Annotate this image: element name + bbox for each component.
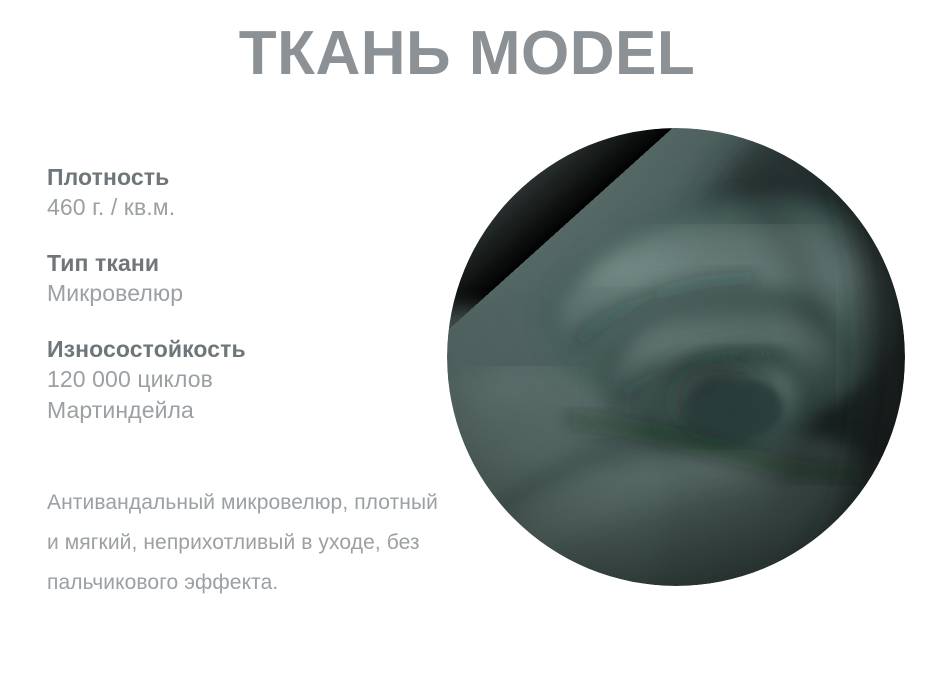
spec-list: Плотность 460 г. / кв.м. Тип ткани Микро… xyxy=(47,163,447,452)
spec-item-density: Плотность 460 г. / кв.м. xyxy=(47,163,447,223)
spec-item-fabric-type: Тип ткани Микровелюр xyxy=(47,249,447,309)
page-title: ТКАНЬ MODEL xyxy=(0,18,934,90)
spec-label-fabric-type: Тип ткани xyxy=(47,249,447,278)
fabric-photo xyxy=(447,128,905,586)
fabric-photo-image xyxy=(447,128,905,586)
spec-label-durability: Износостойкость xyxy=(47,335,447,364)
spec-item-durability: Износостойкость 120 000 циклов Мартиндей… xyxy=(47,335,447,426)
spec-label-density: Плотность xyxy=(47,163,447,192)
spec-value-durability: 120 000 циклов Мартиндейла xyxy=(47,364,447,426)
fabric-spec-slide: ТКАНЬ MODEL Плотность 460 г. / кв.м. Тип… xyxy=(0,0,934,700)
spec-value-fabric-type: Микровелюр xyxy=(47,278,447,309)
spec-value-density: 460 г. / кв.м. xyxy=(47,192,447,223)
description-text: Антивандальный микровелюр, плотный и мяг… xyxy=(47,483,447,603)
